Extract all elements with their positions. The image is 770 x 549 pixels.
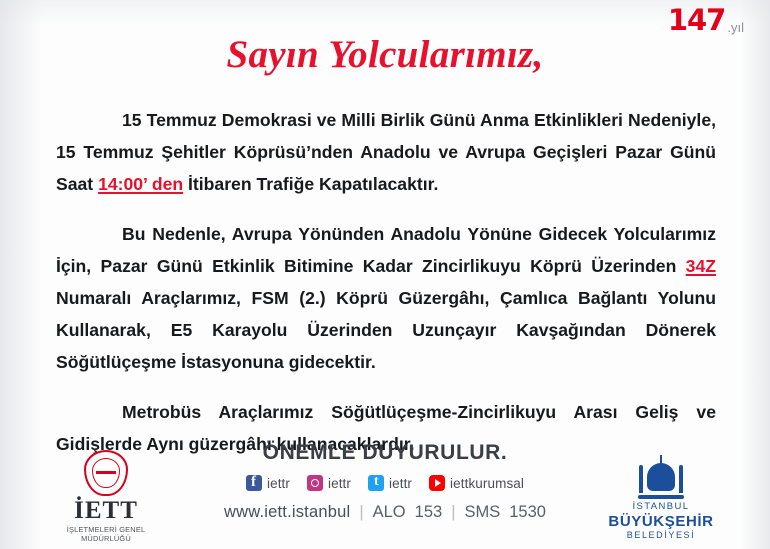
- alo-label: ALO: [373, 503, 406, 522]
- paragraph-1-highlight-time: 14:00’ den: [98, 174, 183, 194]
- alo-number: 153: [415, 503, 443, 522]
- facebook-icon: [246, 475, 262, 491]
- contact-separator-2: |: [451, 503, 455, 522]
- paragraph-2: Bu Nedenle, Avrupa Yönünden Anadolu Yönü…: [56, 218, 716, 378]
- youtube-icon: [429, 475, 445, 491]
- social-link-youtube[interactable]: iettkurumsal: [429, 475, 524, 491]
- paragraph-2-text-b: Numaralı Araçlarımız, FSM (2.) Köprü Güz…: [56, 288, 716, 372]
- mosque-emblem-icon: [636, 455, 686, 499]
- instagram-handle: iettr: [328, 476, 351, 491]
- youtube-handle: iettkurumsal: [450, 476, 524, 491]
- social-link-facebook[interactable]: iettr: [246, 475, 290, 491]
- sms-label: SMS: [464, 503, 500, 522]
- ibb-line-3: BELEDİYESİ: [586, 530, 736, 541]
- iett-seal-bar: [96, 471, 116, 474]
- emblem-minaret-left: [639, 465, 643, 493]
- facebook-handle: iettr: [267, 476, 290, 491]
- paragraph-2-highlight-route: 34Z: [686, 256, 716, 276]
- page-title: Sayın Yolcularımız,: [0, 32, 770, 77]
- anniversary-number: 147: [668, 6, 726, 35]
- emblem-dome: [647, 463, 675, 491]
- iett-seal-icon: [84, 450, 128, 496]
- instagram-icon: [307, 475, 323, 491]
- announcement-body: 15 Temmuz Demokrasi ve Milli Birlik Günü…: [56, 104, 716, 460]
- sms-number: 1530: [509, 503, 546, 522]
- announcement-page: 147 .yıl Sayın Yolcularımız, 15 Temmuz D…: [0, 0, 770, 549]
- social-link-twitter[interactable]: iettr: [368, 475, 412, 491]
- twitter-handle: iettr: [389, 476, 412, 491]
- ibb-logo: İSTANBUL BÜYÜKŞEHİR BELEDİYESİ: [586, 455, 736, 541]
- contact-separator-1: |: [359, 503, 363, 522]
- paragraph-2-text-a: Bu Nedenle, Avrupa Yönünden Anadolu Yönü…: [56, 224, 716, 276]
- ibb-line-1: İSTANBUL: [586, 502, 736, 513]
- iett-subtitle: İŞLETMELERİ GENEL MÜDÜRLÜĞÜ: [46, 525, 166, 543]
- anniversary-logo: 147 .yıl: [668, 6, 744, 35]
- ibb-line-2: BÜYÜKŞEHİR: [586, 513, 736, 530]
- website-link[interactable]: www.iett.istanbul: [224, 503, 350, 522]
- iett-name: İETT: [46, 498, 166, 523]
- paragraph-1-text-b: İtibaren Trafiğe Kapatılacaktır.: [183, 174, 438, 194]
- twitter-icon: [368, 475, 384, 491]
- emblem-base: [638, 495, 684, 499]
- social-link-instagram[interactable]: iettr: [307, 475, 351, 491]
- emblem-minaret-right: [679, 465, 683, 493]
- iett-logo: İETT İŞLETMELERİ GENEL MÜDÜRLÜĞÜ: [46, 450, 166, 543]
- paragraph-1: 15 Temmuz Demokrasi ve Milli Birlik Günü…: [56, 104, 716, 200]
